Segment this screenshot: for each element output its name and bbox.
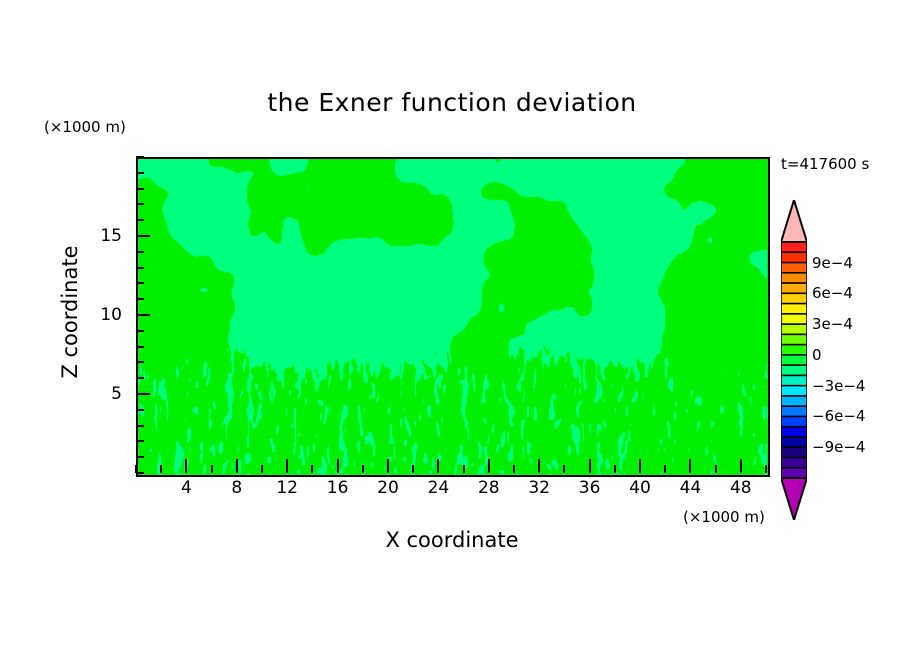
- colorbar-label: 6e−4: [812, 284, 853, 302]
- figure-canvas: the Exner function deviation (×1000 m) (…: [0, 0, 904, 654]
- x-tick: [463, 465, 465, 473]
- y-tick-label: 5: [0, 384, 122, 404]
- y-tick: [136, 267, 144, 269]
- y-tick: [136, 393, 150, 395]
- x-tick: [337, 459, 339, 473]
- x-tick: [589, 459, 591, 473]
- colorbar-band: [781, 345, 807, 356]
- x-tick: [185, 459, 187, 473]
- y-tick: [136, 425, 144, 427]
- colorbar-label: −6e−4: [812, 407, 865, 425]
- x-tick-label: 48: [730, 478, 752, 498]
- y-tick: [136, 188, 144, 190]
- x-tick-label: 40: [629, 478, 651, 498]
- colorbar-band: [781, 334, 807, 345]
- x-tick: [362, 465, 364, 473]
- colorbar-band: [781, 293, 807, 304]
- colorbar-over-arrow: [781, 200, 807, 242]
- colorbar-label: 0: [812, 346, 822, 364]
- colorbar-band: [781, 406, 807, 417]
- colorbar-band: [781, 283, 807, 294]
- x-tick: [563, 465, 565, 473]
- x-tick-label: 44: [680, 478, 702, 498]
- x-tick: [538, 459, 540, 473]
- colorbar: [781, 200, 807, 520]
- colorbar-band: [781, 447, 807, 458]
- y-tick: [136, 251, 144, 253]
- x-tick-label: 12: [276, 478, 298, 498]
- colorbar-band: [781, 457, 807, 468]
- y-tick: [136, 235, 150, 237]
- x-tick: [160, 465, 162, 473]
- y-tick: [136, 346, 144, 348]
- x-tick: [311, 465, 313, 473]
- colorbar-band: [781, 314, 807, 325]
- colorbar-band: [781, 427, 807, 438]
- colorbar-band: [781, 468, 807, 479]
- x-tick-label: 16: [327, 478, 349, 498]
- x-tick: [236, 459, 238, 473]
- y-tick: [136, 156, 144, 158]
- y-tick: [136, 219, 144, 221]
- x-tick: [513, 465, 515, 473]
- x-tick: [614, 465, 616, 473]
- colorbar-label: −3e−4: [812, 377, 865, 395]
- y-tick: [136, 440, 144, 442]
- colorbar-swatches: [781, 200, 807, 520]
- y-tick: [136, 298, 144, 300]
- x-tick: [740, 459, 742, 473]
- x-tick-label: 32: [528, 478, 550, 498]
- colorbar-band: [781, 242, 807, 253]
- y-tick: [136, 409, 144, 411]
- x-tick: [765, 465, 767, 473]
- x-tick: [211, 465, 213, 473]
- x-tick: [286, 459, 288, 473]
- y-tick: [136, 472, 144, 474]
- time-annotation: t=417600 s: [781, 155, 869, 173]
- y-tick: [136, 361, 144, 363]
- y-tick-label: 10: [0, 305, 122, 325]
- x-tick: [437, 459, 439, 473]
- x-axis-title: X coordinate: [0, 528, 904, 552]
- contour-plot-area: [136, 157, 770, 477]
- y-tick: [136, 330, 144, 332]
- x-axis-units-label: (×1000 m): [683, 508, 765, 526]
- x-tick: [261, 465, 263, 473]
- colorbar-band: [781, 365, 807, 376]
- x-tick: [412, 465, 414, 473]
- y-tick-label: 15: [0, 226, 122, 246]
- x-tick-label: 20: [377, 478, 399, 498]
- x-tick-label: 8: [231, 478, 242, 498]
- colorbar-band: [781, 273, 807, 284]
- x-tick-label: 24: [428, 478, 450, 498]
- x-tick-label: 36: [579, 478, 601, 498]
- y-tick: [136, 377, 144, 379]
- x-tick: [387, 459, 389, 473]
- y-tick: [136, 172, 144, 174]
- y-tick: [136, 282, 144, 284]
- colorbar-label: 9e−4: [812, 254, 853, 272]
- x-tick: [639, 459, 641, 473]
- colorbar-band: [781, 252, 807, 263]
- colorbar-label: 3e−4: [812, 315, 853, 333]
- y-axis-units-label: (×1000 m): [44, 118, 126, 136]
- x-tick: [488, 459, 490, 473]
- colorbar-band: [781, 324, 807, 335]
- colorbar-under-arrow: [781, 478, 807, 520]
- x-tick-label: 28: [478, 478, 500, 498]
- colorbar-band: [781, 437, 807, 448]
- colorbar-band: [781, 263, 807, 274]
- colorbar-band: [781, 355, 807, 366]
- contour-field: [138, 159, 768, 475]
- colorbar-label: −9e−4: [812, 438, 865, 456]
- y-tick: [136, 203, 144, 205]
- x-tick-label: 4: [181, 478, 192, 498]
- y-tick: [136, 314, 150, 316]
- colorbar-band: [781, 396, 807, 407]
- colorbar-band: [781, 375, 807, 386]
- colorbar-band: [781, 416, 807, 427]
- y-tick: [136, 456, 144, 458]
- page-title: the Exner function deviation: [0, 88, 904, 117]
- x-tick: [664, 465, 666, 473]
- x-tick: [689, 459, 691, 473]
- colorbar-band: [781, 304, 807, 315]
- x-tick: [715, 465, 717, 473]
- colorbar-band: [781, 386, 807, 397]
